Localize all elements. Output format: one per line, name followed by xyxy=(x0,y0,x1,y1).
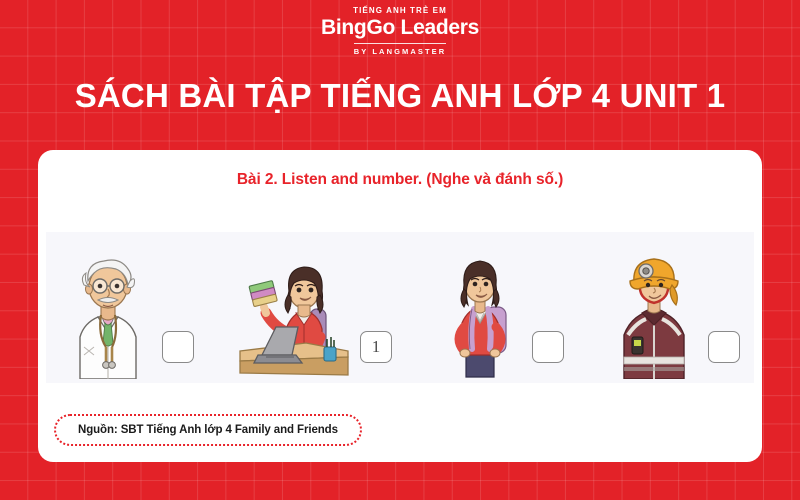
figure-slot-firefighter xyxy=(606,232,740,379)
exercise-heading: Bài 2. Listen and number. (Nghe và đánh … xyxy=(38,150,762,189)
figure-slot-office-worker: 1 xyxy=(236,232,392,379)
office-worker-illustration xyxy=(236,232,354,379)
answer-box-doctor[interactable] xyxy=(162,331,194,363)
figure-slot-student xyxy=(434,232,564,379)
answer-box-office-worker[interactable]: 1 xyxy=(360,331,392,363)
doctor-illustration xyxy=(60,232,156,379)
brand-name: BingGo Leaders xyxy=(0,17,800,38)
illustration-band: 1 xyxy=(46,232,754,383)
page-title: SÁCH BÀI TẬP TIẾNG ANH LỚP 4 UNIT 1 xyxy=(0,77,800,115)
exercise-card: Bài 2. Listen and number. (Nghe và đánh … xyxy=(38,150,762,462)
brand-tagline: TIẾNG ANH TRẺ EM xyxy=(0,7,800,15)
figure-slot-doctor xyxy=(60,232,194,379)
answer-box-firefighter[interactable] xyxy=(708,331,740,363)
source-badge: Nguồn: SBT Tiếng Anh lớp 4 Family and Fr… xyxy=(54,414,362,446)
answer-box-student[interactable] xyxy=(532,331,564,363)
brand-logo: TIẾNG ANH TRẺ EM BingGo Leaders BY LANGM… xyxy=(0,7,800,58)
brand-sub: BY LANGMASTER xyxy=(354,43,447,56)
student-illustration xyxy=(434,232,526,379)
firefighter-illustration xyxy=(606,232,702,379)
